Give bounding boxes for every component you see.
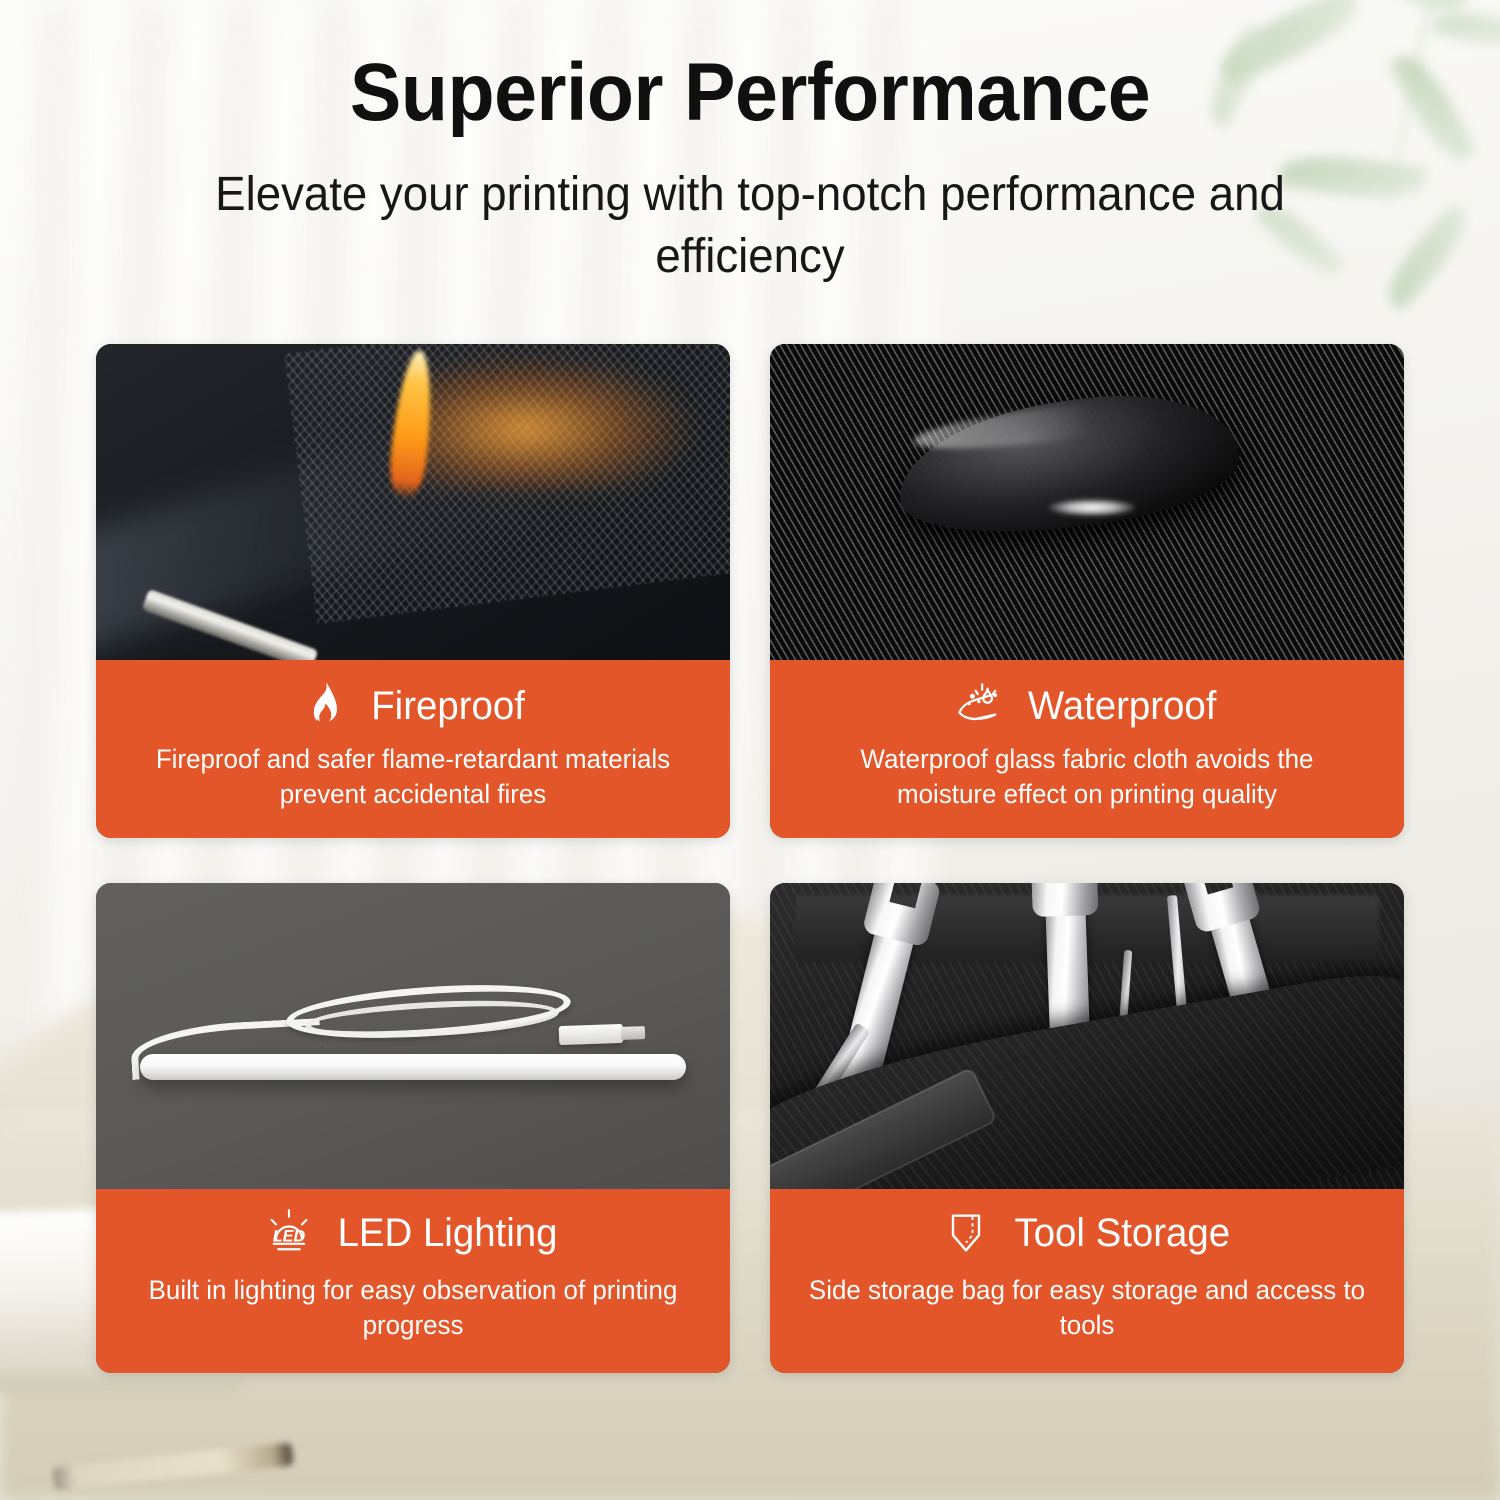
pocket-icon [940, 1207, 992, 1259]
fireproof-caption-head: Fireproof [122, 680, 704, 732]
waterproof-caption: Waterproof Waterproof glass fabric cloth… [770, 660, 1404, 838]
led-lighting-caption-head: LED LED Lighting [122, 1207, 704, 1259]
led-lighting-caption: LED LED Lighting Built in lighting for e… [96, 1189, 730, 1373]
led-lighting-description: Built in lighting for easy observation o… [134, 1273, 693, 1343]
fireproof-photo [96, 344, 730, 660]
waterproof-description: Waterproof glass fabric cloth avoids the… [808, 742, 1367, 812]
waterproof-title: Waterproof [1028, 685, 1217, 727]
led-lighting-photo [96, 883, 730, 1189]
fireproof-caption: Fireproof Fireproof and safer flame-reta… [96, 660, 730, 838]
bead-specular-highlight [1049, 499, 1135, 516]
fireproof-description: Fireproof and safer flame-retardant mate… [134, 742, 693, 812]
tool-storage-title: Tool Storage [1014, 1212, 1230, 1254]
fireproof-title: Fireproof [371, 685, 525, 727]
svg-text:LED: LED [273, 1227, 306, 1245]
tool-storage-caption-head: Tool Storage [796, 1207, 1378, 1259]
tool-storage-caption: Tool Storage Side storage bag for easy s… [770, 1189, 1404, 1373]
feature-card-fireproof: Fireproof Fireproof and safer flame-reta… [96, 344, 730, 838]
waterproof-photo [770, 344, 1404, 660]
flame-icon [298, 680, 350, 732]
led-lighting-title: LED Lighting [338, 1212, 558, 1254]
feature-grid: Fireproof Fireproof and safer flame-reta… [96, 344, 1404, 1373]
header: Superior Performance Elevate your printi… [0, 0, 1500, 289]
page-subtitle: Elevate your printing with top-notch per… [38, 164, 1463, 289]
page-title: Superior Performance [45, 52, 1455, 134]
tool-storage-description: Side storage bag for easy storage and ac… [808, 1273, 1367, 1343]
feature-card-tool-storage: Tool Storage Side storage bag for easy s… [770, 883, 1404, 1373]
waterproof-caption-head: Waterproof [796, 680, 1378, 732]
feature-card-led-lighting: LED LED Lighting Built in lighting for e… [96, 883, 730, 1373]
flame-glow [413, 356, 692, 489]
usb-connector [559, 1024, 624, 1045]
tool-storage-photo [770, 883, 1404, 1189]
water-repellent-cloth-icon [954, 680, 1006, 732]
led-light-bar [140, 1054, 685, 1080]
led-lamp-icon: LED [263, 1207, 315, 1259]
feature-card-waterproof: Waterproof Waterproof glass fabric cloth… [770, 344, 1404, 838]
